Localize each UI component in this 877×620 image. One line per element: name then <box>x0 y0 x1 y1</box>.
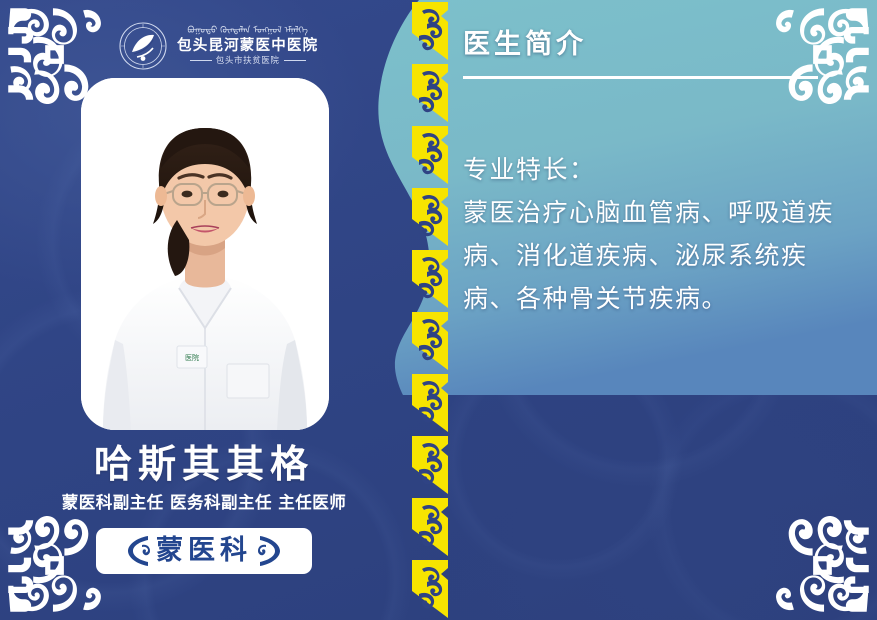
department-badge-label: 蒙医科 <box>152 534 256 568</box>
doctor-name: 哈斯其其格 <box>0 442 408 486</box>
department-badge[interactable]: 蒙医科 <box>96 528 312 574</box>
doctor-profile-poster: ᠪᠤᠭᠤᠲᠤ ᠬᠦᠨᠳᠡᠯᠡᠨ ᠮᠣᠩᠭᠣᠯ ᠡᠮᠨᠡᠯᠭᠡ 包头昆河蒙医中医院… <box>0 0 877 620</box>
specialty-label: 专业特长： <box>463 148 835 191</box>
hospital-mongolian-script: ᠪᠤᠭᠤᠲᠤ ᠬᠦᠨᠳᠡᠯᠡᠨ ᠮᠣᠩᠭᠣᠯ ᠡᠮᠨᠡᠯᠭᠡ <box>187 26 308 37</box>
hospital-subtitle: 包头市扶贫医院 <box>190 55 306 67</box>
doctor-titles: 蒙医科副主任 医务科副主任 主任医师 <box>0 492 408 514</box>
scroll-bracket-right-icon <box>256 534 282 568</box>
specialty-body: 蒙医治疗心脑血管病、呼吸道疾病、消化道疾病、泌尿系统疾病、各种骨关节疾病。 <box>463 191 835 320</box>
hospital-branding: ᠪᠤᠭᠤᠲᠤ ᠬᠦᠨᠳᠡᠯᠡᠨ ᠮᠣᠩᠭᠣᠯ ᠡᠮᠨᠡᠯᠭᠡ 包头昆河蒙医中医院… <box>118 18 388 74</box>
doctor-portrait: 医院 <box>81 78 329 430</box>
panel-heading-rule <box>463 76 818 79</box>
doctor-portrait-card: 医院 <box>81 78 329 430</box>
mongolian-zigzag-band <box>408 0 452 620</box>
svg-text:医院: 医院 <box>185 353 199 362</box>
specialty-intro: 专业特长： 蒙医治疗心脑血管病、呼吸道疾病、消化道疾病、泌尿系统疾病、各种骨关节… <box>463 148 835 320</box>
hospital-name: 包头昆河蒙医中医院 <box>177 37 318 55</box>
hospital-emblem-icon <box>118 21 168 71</box>
scroll-bracket-left-icon <box>126 534 152 568</box>
panel-heading: 医生简介 <box>463 28 587 62</box>
